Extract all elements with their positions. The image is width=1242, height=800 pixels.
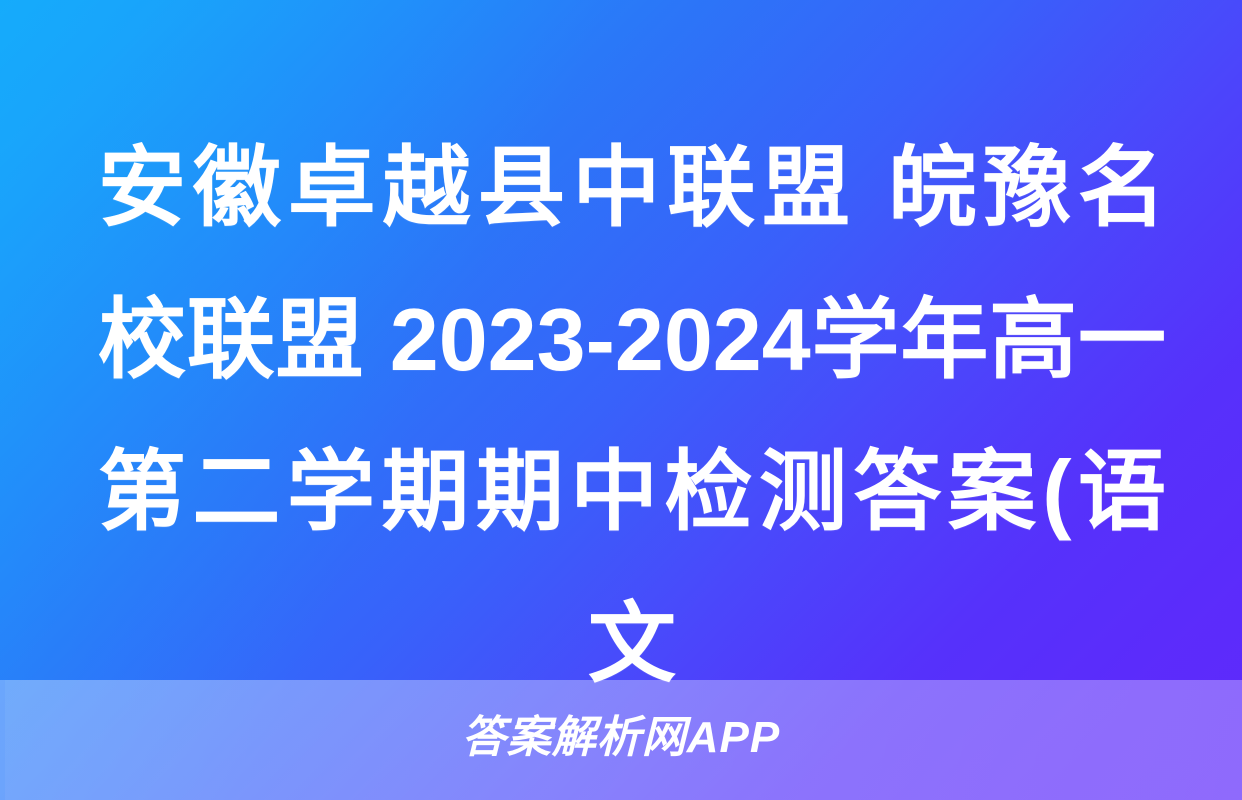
page-title: 安徽卓越县中联盟 皖豫名校联盟 2023-2024学年高一第二学期期中检测答案(… — [98, 112, 1166, 720]
app-watermark-label: 答案解析网APP — [462, 716, 780, 760]
app-watermark-banner: 答案解析网APP — [0, 680, 1242, 800]
poster-canvas: 安徽卓越县中联盟 皖豫名校联盟 2023-2024学年高一第二学期期中检测答案(… — [0, 0, 1242, 800]
